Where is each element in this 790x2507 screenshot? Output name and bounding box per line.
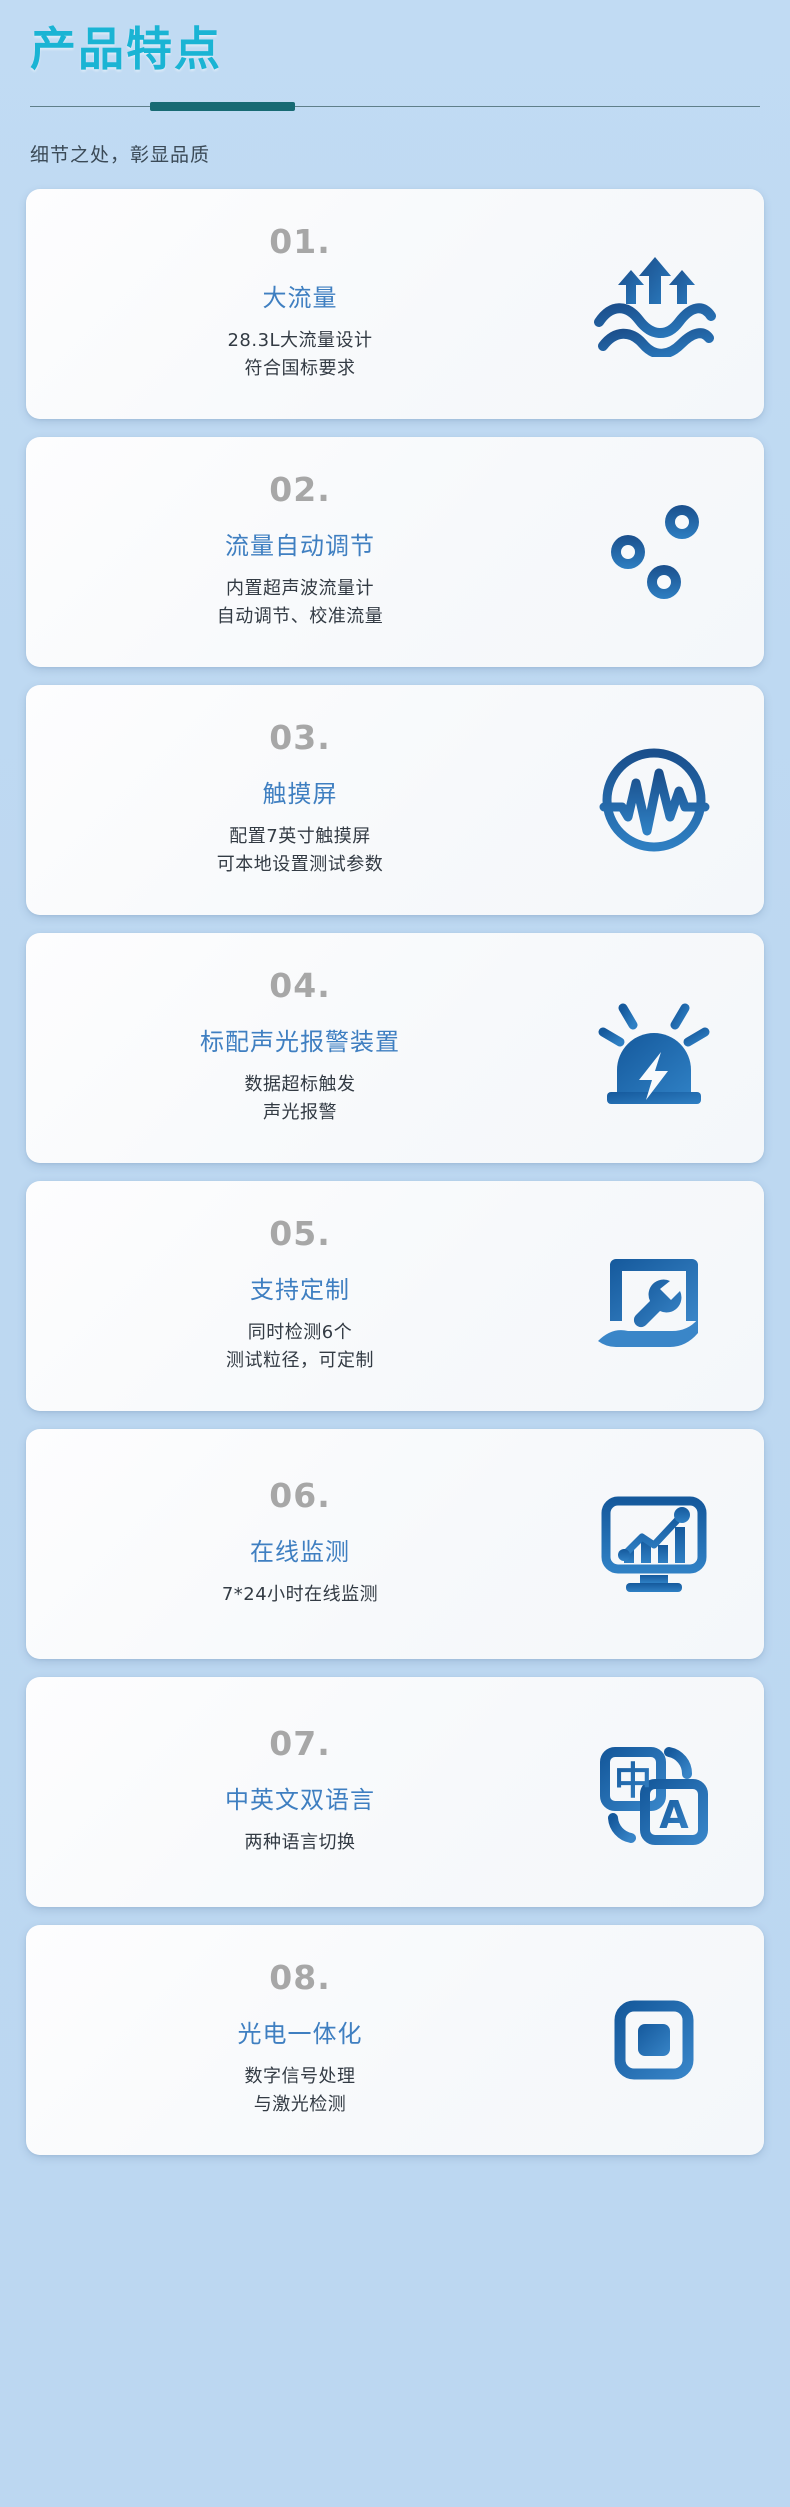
feature-card-text: 02. 流量自动调节 内置超声波流量计 自动调节、校准流量 xyxy=(36,473,554,631)
monitor-chart-icon xyxy=(554,1459,754,1629)
feature-card-desc-line-1: 数字信号处理 xyxy=(245,2063,356,2091)
feature-card[interactable]: 04. 标配声光报警装置 数据超标触发 声光报警 xyxy=(26,933,764,1163)
feature-card-desc-line-2: 与激光检测 xyxy=(254,2091,347,2119)
flow-arrows-waves-icon xyxy=(554,219,754,389)
feature-card-desc-line-1: 配置7英寸触摸屏 xyxy=(229,823,370,851)
feature-card[interactable]: 03. 触摸屏 配置7英寸触摸屏 可本地设置测试参数 xyxy=(26,685,764,915)
feature-card-title: 在线监测 xyxy=(250,1538,350,1567)
divider-line xyxy=(30,106,760,107)
feature-card[interactable]: 06. 在线监测 7*24小时在线监测 xyxy=(26,1429,764,1659)
page-subtitle: 细节之处，彰显品质 xyxy=(30,140,760,167)
page-header: 产品特点 细节之处，彰显品质 xyxy=(0,0,790,167)
page-title: 产品特点 xyxy=(30,26,760,72)
feature-card-text: 05. 支持定制 同时检测6个 测试粒径，可定制 xyxy=(36,1217,554,1375)
feature-card[interactable]: 02. 流量自动调节 内置超声波流量计 自动调节、校准流量 xyxy=(26,437,764,667)
translate-language-icon: 中 A xyxy=(554,1707,754,1877)
feature-card-desc-line-1: 数据超标触发 xyxy=(245,1071,356,1099)
feature-card-text: 01. 大流量 28.3L大流量设计 符合国标要求 xyxy=(36,225,554,383)
feature-card-text: 07. 中英文双语言 两种语言切换 xyxy=(36,1727,554,1857)
feature-card-desc-line-2: 可本地设置测试参数 xyxy=(217,851,384,879)
feature-card-list: 01. 大流量 28.3L大流量设计 符合国标要求 xyxy=(0,189,790,2179)
divider-accent-bar xyxy=(150,102,295,111)
title-divider xyxy=(30,102,760,112)
svg-text:中: 中 xyxy=(614,1759,652,1803)
feature-card-number: 07. xyxy=(269,1727,330,1760)
feature-card[interactable]: 08. 光电一体化 数字信号处理 与激光检测 xyxy=(26,1925,764,2155)
feature-card-title: 支持定制 xyxy=(250,1276,350,1305)
hand-screen-wrench-icon xyxy=(554,1211,754,1381)
svg-text:A: A xyxy=(659,1793,689,1837)
feature-card-title: 流量自动调节 xyxy=(225,532,375,561)
feature-card-desc-line-1: 内置超声波流量计 xyxy=(226,575,374,603)
feature-card-desc-line-2: 自动调节、校准流量 xyxy=(217,603,384,631)
feature-card-text: 03. 触摸屏 配置7英寸触摸屏 可本地设置测试参数 xyxy=(36,721,554,879)
feature-card-number: 06. xyxy=(269,1479,330,1512)
feature-card-number: 04. xyxy=(269,969,330,1002)
feature-card-desc-line-2: 测试粒径，可定制 xyxy=(226,1347,374,1375)
feature-card-number: 01. xyxy=(269,225,330,258)
feature-card-number: 05. xyxy=(269,1217,330,1250)
feature-card[interactable]: 05. 支持定制 同时检测6个 测试粒径，可定制 xyxy=(26,1181,764,1411)
alarm-beacon-icon xyxy=(554,963,754,1133)
chip-processor-icon xyxy=(554,1955,754,2125)
feature-card-text: 04. 标配声光报警装置 数据超标触发 声光报警 xyxy=(36,969,554,1127)
feature-card-text: 08. 光电一体化 数字信号处理 与激光检测 xyxy=(36,1961,554,2119)
feature-card-title: 标配声光报警装置 xyxy=(200,1028,400,1057)
feature-card-desc-line-1: 两种语言切换 xyxy=(245,1829,356,1857)
sliders-adjust-icon xyxy=(554,467,754,637)
feature-card-title: 触摸屏 xyxy=(263,780,338,809)
waveform-circle-icon xyxy=(554,715,754,885)
feature-card-number: 03. xyxy=(269,721,330,754)
feature-card-number: 08. xyxy=(269,1961,330,1994)
feature-card-desc-line-1: 7*24小时在线监测 xyxy=(222,1581,378,1609)
feature-card-title: 中英文双语言 xyxy=(225,1786,375,1815)
feature-card[interactable]: 01. 大流量 28.3L大流量设计 符合国标要求 xyxy=(26,189,764,419)
feature-card-desc-line-1: 同时检测6个 xyxy=(248,1319,352,1347)
feature-card-title: 大流量 xyxy=(263,284,338,313)
feature-card-desc-line-1: 28.3L大流量设计 xyxy=(227,327,372,355)
feature-card-desc-line-2: 声光报警 xyxy=(263,1099,337,1127)
feature-card-number: 02. xyxy=(269,473,330,506)
feature-card-title: 光电一体化 xyxy=(238,2020,363,2049)
feature-card-desc-line-2: 符合国标要求 xyxy=(245,355,356,383)
feature-card[interactable]: 07. 中英文双语言 两种语言切换 中 A xyxy=(26,1677,764,1907)
feature-card-text: 06. 在线监测 7*24小时在线监测 xyxy=(36,1479,554,1609)
